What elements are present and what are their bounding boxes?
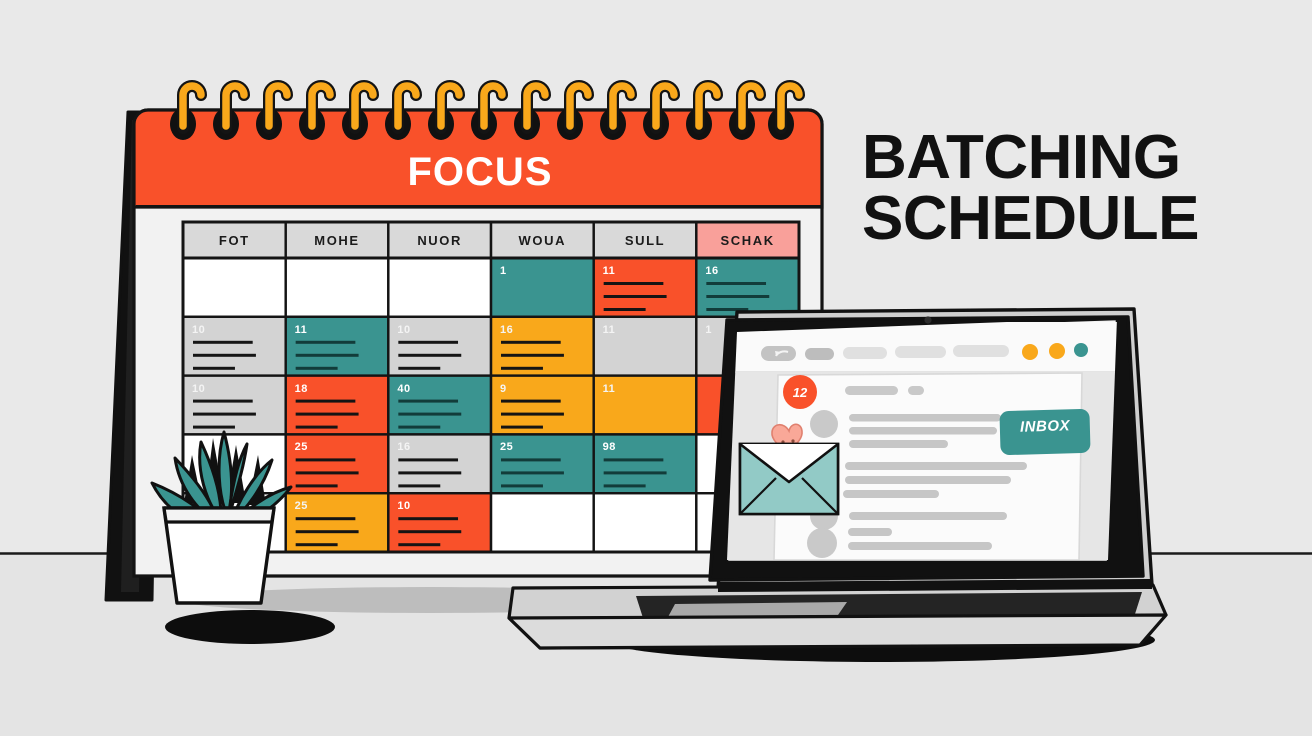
calendar-day-label-woua: WOUA	[491, 233, 594, 248]
calendar-date-number: 10	[192, 383, 205, 395]
calendar-event-line	[501, 341, 561, 344]
calendar-event-line	[501, 458, 561, 461]
envelope-icon	[740, 444, 838, 514]
calendar-date-number: 16	[705, 265, 718, 277]
calendar-date-number: 16	[397, 441, 410, 453]
calendar-event-line	[296, 400, 356, 403]
plant-shadow	[165, 610, 335, 644]
calendar-event-line	[398, 471, 461, 474]
calendar-date-number: 98	[603, 441, 616, 453]
calendar-day-cell[interactable]	[594, 493, 697, 552]
plant-pot-rim	[164, 508, 274, 522]
headline-line-1: BATCHING	[862, 123, 1181, 192]
toolbar-pill	[953, 345, 1009, 357]
calendar-date-number: 40	[397, 383, 410, 395]
headline-line-2: SCHEDULE	[862, 189, 1282, 250]
window-dot-amber-2	[1049, 343, 1065, 359]
calendar-day-cell[interactable]	[491, 493, 594, 552]
calendar-event-line	[398, 458, 458, 461]
calendar-date-number: 16	[500, 324, 513, 336]
calendar-event-line	[398, 543, 440, 546]
calendar-event-line	[501, 471, 564, 474]
calendar-date-number: 11	[603, 265, 616, 277]
calendar-event-line	[193, 354, 256, 357]
laptop-camera	[924, 316, 931, 323]
inbox-button-label[interactable]: INBOX	[1005, 417, 1085, 436]
calendar-event-line	[501, 367, 543, 370]
calendar-event-line	[398, 413, 461, 416]
calendar-event-line	[398, 400, 458, 403]
calendar-event-line	[193, 426, 235, 429]
calendar-event-line	[398, 367, 440, 370]
calendar-event-line	[501, 354, 564, 357]
calendar-event-line	[398, 354, 461, 357]
calendar-event-line	[501, 413, 564, 416]
calendar-date-number: 9	[500, 383, 507, 395]
calendar-day-cell[interactable]	[183, 258, 286, 317]
calendar-date-number: 10	[397, 324, 410, 336]
calendar-event-line	[604, 295, 667, 298]
toolbar-pill	[843, 347, 887, 359]
calendar-date-number: 10	[397, 500, 410, 512]
avatar	[810, 410, 838, 438]
calendar-event-line	[604, 484, 646, 487]
calendar-event-line	[296, 413, 359, 416]
spiral-binding	[170, 86, 799, 140]
toolbar-pill	[805, 348, 834, 360]
calendar-event-line	[398, 426, 440, 429]
calendar-day-label-nuor: NUOR	[388, 233, 491, 248]
calendar-day-label-mohe: MOHE	[286, 233, 389, 248]
window-dot-amber-1	[1022, 344, 1038, 360]
calendar-event-line	[398, 341, 458, 344]
calendar-date-number: 1	[705, 324, 712, 336]
calendar-event-line	[604, 471, 667, 474]
calendar-event-line	[193, 367, 235, 370]
calendar-event-line	[296, 458, 356, 461]
calendar-day-cell[interactable]	[286, 258, 389, 317]
calendar-event-line	[296, 367, 338, 370]
calendar-date-number: 18	[295, 383, 308, 395]
calendar-event-line	[193, 341, 253, 344]
calendar-date-number: 11	[295, 324, 308, 336]
calendar-title: FOCUS	[160, 150, 800, 195]
scene-illustration	[0, 0, 1312, 736]
calendar-event-line	[398, 517, 458, 520]
calendar-event-line	[193, 413, 256, 416]
calendar-event-line	[398, 530, 461, 533]
calendar-event-line	[706, 295, 769, 298]
calendar-day-label-schak: SCHAK	[696, 233, 799, 248]
notification-badge-label: 12	[786, 385, 814, 400]
calendar-event-line	[501, 400, 561, 403]
calendar-event-line	[296, 530, 359, 533]
calendar-event-line	[604, 308, 646, 311]
calendar-date-number: 25	[295, 500, 308, 512]
calendar-date-number: 11	[603, 324, 616, 336]
laptop-trackpad	[668, 602, 847, 617]
calendar-date-number: 25	[500, 441, 513, 453]
calendar-event-line	[296, 517, 356, 520]
calendar-event-line	[296, 426, 338, 429]
calendar-event-line	[501, 426, 543, 429]
avatar	[807, 528, 837, 558]
laptop-base-front	[509, 615, 1166, 648]
calendar-event-line	[296, 354, 359, 357]
calendar-event-line	[706, 282, 766, 285]
page-title: BATCHING SCHEDULE	[862, 128, 1282, 250]
calendar-event-line	[193, 400, 253, 403]
toolbar-pill	[895, 346, 946, 358]
calendar-event-line	[296, 543, 338, 546]
calendar-date-number: 10	[192, 324, 205, 336]
window-dot-teal	[1074, 343, 1088, 357]
calendar-date-number: 25	[295, 441, 308, 453]
calendar-day-cell[interactable]	[388, 258, 491, 317]
calendar-date-number: 1	[500, 265, 507, 277]
calendar-event-line	[398, 484, 440, 487]
calendar-event-line	[296, 484, 338, 487]
illustration-canvas: BATCHING SCHEDULE FOCUS FOTMOHENUORWOUAS…	[0, 0, 1312, 736]
calendar-date-number: 11	[603, 383, 616, 395]
calendar-event-line	[501, 484, 543, 487]
calendar-event-line	[604, 458, 664, 461]
calendar-day-label-fot: FOT	[183, 233, 286, 248]
calendar-event-line	[604, 282, 664, 285]
calendar-event-line	[296, 471, 359, 474]
calendar-day-label-sull: SULL	[594, 233, 697, 248]
calendar-event-line	[296, 341, 356, 344]
